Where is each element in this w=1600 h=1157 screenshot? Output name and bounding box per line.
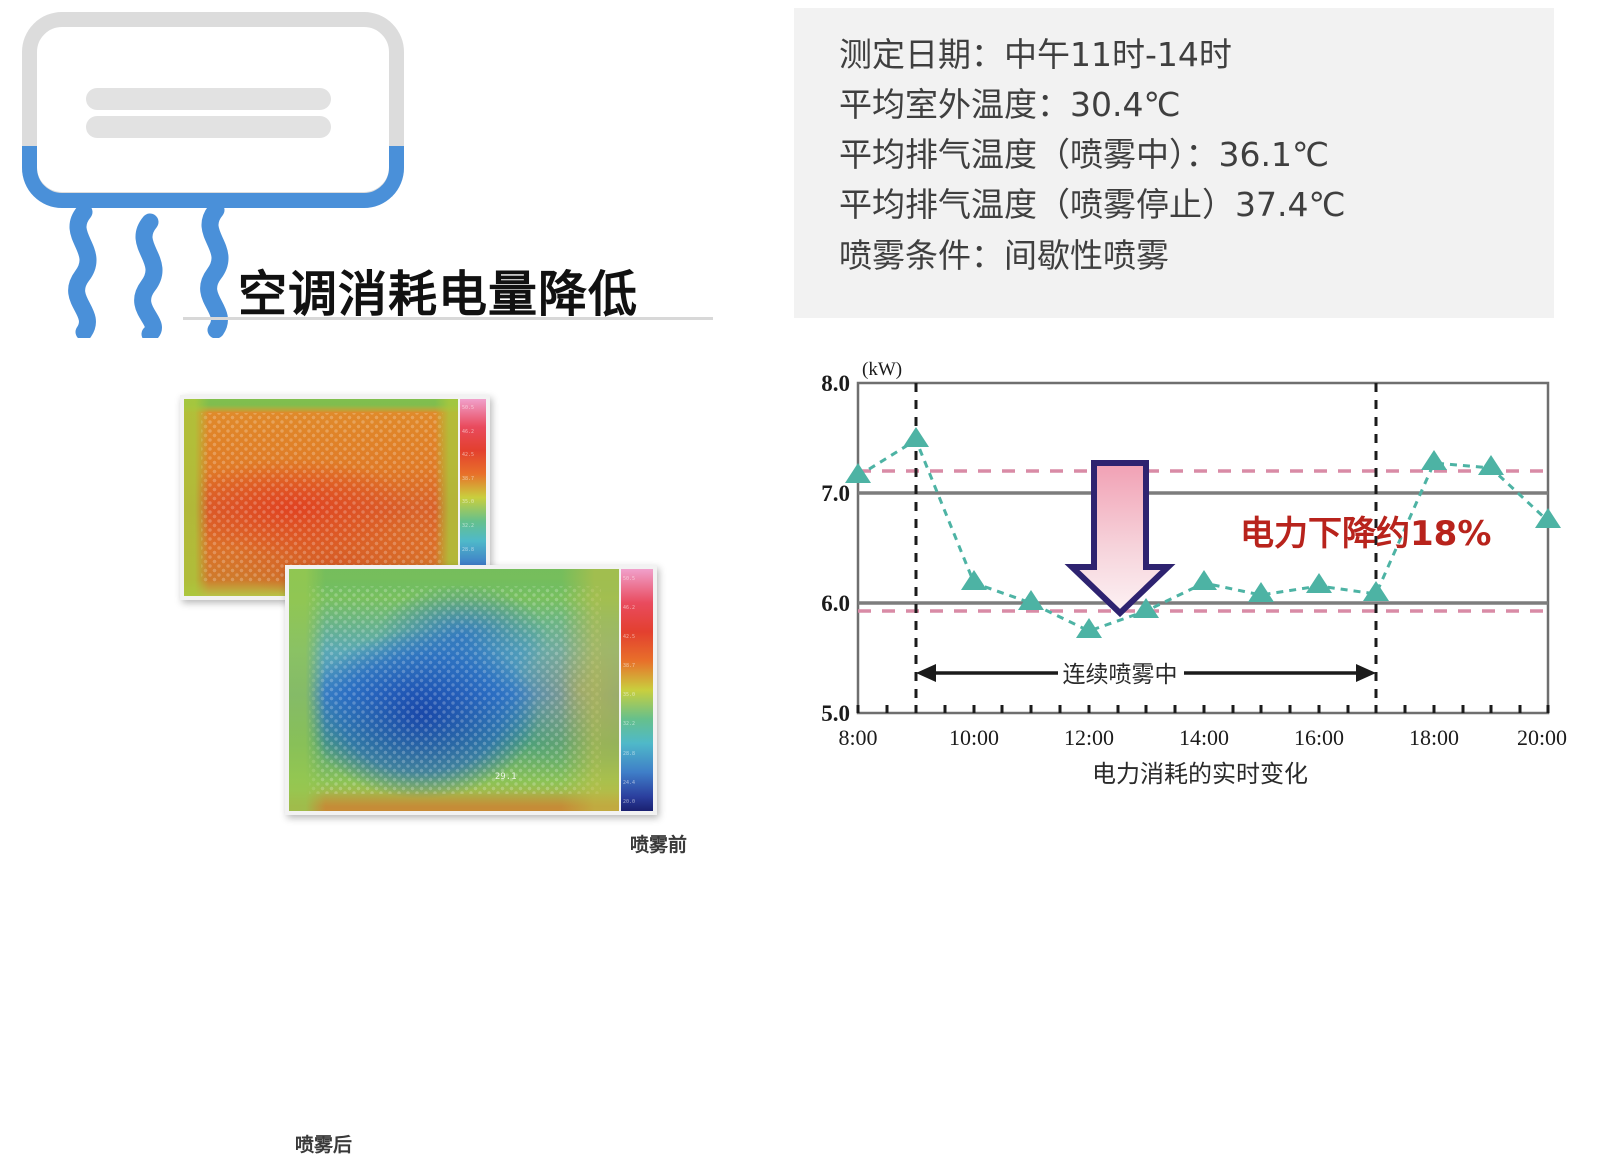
y-axis-unit: (kW)	[862, 359, 902, 380]
thermal-image-after: 29.1 50.546.2 42.538.7 35.032.2 28.824.4…	[285, 565, 657, 815]
measurement-info-box: 测定日期：中午11时-14时 平均室外温度：30.4℃ 平均排气温度（喷雾中）：…	[794, 8, 1554, 318]
x-tick-label: 10:00	[949, 725, 999, 750]
x-tick-label: 20:00	[1517, 725, 1567, 750]
left-panel: 空调消耗电量降低 50.546.2 42.538.7 35.032.2 28.8…	[0, 0, 790, 831]
title-block: 空调消耗电量降低	[238, 255, 758, 326]
info-line: 喷雾条件：间歇性喷雾	[839, 231, 1554, 281]
y-tick-label: 8.0	[821, 371, 850, 396]
thermal-color-scale: 50.546.2 42.538.7 35.032.2 28.824.4 20.0	[619, 569, 653, 811]
thermal-images-group: 50.546.2 42.538.7 35.032.2 28.824.4 20.0…	[110, 385, 690, 825]
info-line: 平均排气温度（喷雾停止）37.4℃	[839, 180, 1554, 230]
thermal-label-after: 喷雾后	[295, 1130, 352, 1157]
title-divider	[183, 317, 713, 320]
coil-fin-pattern	[309, 586, 601, 794]
chart-canvas: (kW) 8.0 7.0 6.0 5.0	[790, 355, 1580, 815]
x-tick-label: 12:00	[1064, 725, 1114, 750]
ac-vent-slot	[86, 116, 331, 138]
thermal-after-heatmap: 29.1	[289, 569, 621, 811]
ac-vent-slot	[86, 88, 331, 110]
chart-caption: 电力消耗的实时变化	[1092, 760, 1308, 788]
ac-bottom-band	[22, 146, 404, 208]
right-panel: 测定日期：中午11时-14时 平均室外温度：30.4℃ 平均排气温度（喷雾中）：…	[790, 0, 1600, 831]
thermal-label-before: 喷雾前	[630, 830, 687, 857]
x-tick-label: 16:00	[1294, 725, 1344, 750]
y-tick-label: 5.0	[821, 701, 850, 726]
info-line: 平均室外温度：30.4℃	[839, 80, 1554, 130]
x-tick-label: 14:00	[1179, 725, 1229, 750]
power-consumption-chart: (kW) 8.0 7.0 6.0 5.0	[790, 355, 1580, 815]
page-title: 空调消耗电量降低	[238, 255, 758, 326]
y-tick-label: 6.0	[821, 591, 850, 616]
reduction-note: 电力下降约18%	[1240, 514, 1491, 554]
info-line: 平均排气温度（喷雾中）：36.1℃	[839, 130, 1554, 180]
x-tick-label: 18:00	[1409, 725, 1459, 750]
spot-temperature-readout: 29.1	[495, 772, 517, 782]
span-label: 连续喷雾中	[1063, 662, 1178, 688]
x-tick-label: 8:00	[838, 725, 877, 750]
coil-fin-pattern	[201, 413, 444, 582]
thermal-scale-ticks: 50.546.2 42.538.7 35.032.2 28.824.4 20.0	[621, 569, 653, 811]
y-tick-label: 7.0	[821, 481, 850, 506]
info-line: 测定日期：中午11时-14时	[839, 30, 1554, 80]
